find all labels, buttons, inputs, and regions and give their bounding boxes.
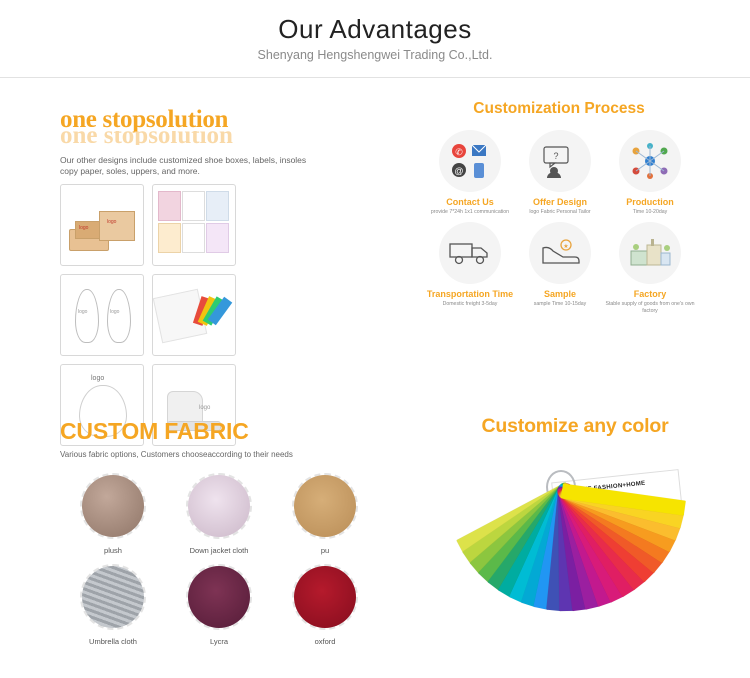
customize-any-color-section: Customize any color PANTONE FASHION+HOME… — [440, 415, 730, 646]
factory-icon — [619, 222, 681, 284]
fabric-swatch — [80, 564, 146, 630]
svg-text:?: ? — [553, 151, 558, 161]
production-network-icon — [619, 130, 681, 192]
process-step-sub: sample Time 10-15day — [515, 301, 605, 308]
customization-process-title: Customization Process — [425, 100, 693, 118]
tile-logo-label-2: logo — [79, 225, 88, 231]
one-stop-tile-grid: logo logo logo logo — [60, 184, 324, 446]
process-step-sub: logo Fabric Personal Tailor — [515, 209, 605, 216]
process-step-name: Transportation Time — [425, 289, 515, 299]
page-header: Our Advantages Shenyang Hengshengwei Tra… — [0, 0, 750, 78]
process-step-factory: Factory Stable supply of goods from one'… — [605, 222, 695, 315]
shoe-sample-icon-svg: ★ — [538, 238, 582, 268]
process-step-name: Sample — [515, 289, 605, 299]
one-stop-title-part2: solution — [146, 106, 228, 133]
fabric-item-lycra: Lycra — [166, 564, 272, 646]
tile-logo-label-1: logo — [107, 219, 116, 225]
fabric-name: Lycra — [166, 637, 272, 646]
fabric-item-oxford: oxford — [272, 564, 378, 646]
process-step-name: Factory — [605, 289, 695, 299]
fabric-swatch — [186, 564, 252, 630]
process-steps-grid: ✆ @ Contact Us provide 7*24h 1x1 communi… — [425, 130, 695, 321]
process-step-sub: provide 7*24h 1x1 communication — [425, 209, 515, 216]
customization-process-section: Customization Process ✆ @ Contact Us pro… — [425, 100, 695, 321]
process-step-name: Contact Us — [425, 197, 515, 207]
fabric-name: plush — [60, 546, 166, 555]
process-step-offer-design: ? Offer Design logo Fabric Personal Tail… — [515, 130, 605, 216]
process-step-name: Offer Design — [515, 197, 605, 207]
fabric-name: Down jacket cloth — [166, 546, 272, 555]
svg-text:@: @ — [454, 166, 463, 176]
tile-shoe-boxes: logo logo — [60, 184, 144, 266]
customize-any-color-title: Customize any color — [440, 415, 710, 438]
design-chat-icon-svg: ? — [540, 144, 580, 178]
contact-icons: ✆ @ — [439, 130, 501, 192]
custom-fabric-title: CUSTOM FABRIC — [60, 418, 400, 445]
tile-sole-logo: logo — [91, 375, 104, 382]
fabric-name: Umbrella cloth — [60, 637, 166, 646]
svg-text:★: ★ — [563, 243, 568, 250]
tile-copy-paper-color-chart — [152, 274, 236, 356]
pantone-fan-deck: PANTONE FASHION+HOME Nylon brights — [440, 456, 730, 646]
custom-fabric-section: CUSTOM FABRIC Various fabric options, Cu… — [60, 418, 400, 655]
fabric-swatch — [80, 473, 146, 539]
truck-icon-svg — [447, 239, 493, 267]
process-step-sub: Stable supply of goods from one's own fa… — [605, 301, 695, 315]
process-step-production: Production Time 10-20day — [605, 130, 695, 216]
one-stop-title-shadow: one stopsolution — [60, 131, 390, 145]
fabric-item-down-jacket-cloth: Down jacket cloth — [166, 473, 272, 555]
custom-fabric-description: Various fabric options, Customers choose… — [60, 450, 400, 459]
factory-icon-svg — [627, 237, 673, 269]
process-step-contact-us: ✆ @ Contact Us provide 7*24h 1x1 communi… — [425, 130, 515, 216]
process-step-transportation-time: Transportation Time Domestic freight 3-5… — [425, 222, 515, 315]
one-stop-solution-section: one stopsolution one stopsolution Our ot… — [60, 105, 390, 446]
company-name: Shenyang Hengshengwei Trading Co.,Ltd. — [0, 48, 750, 62]
one-stop-description: Our other designs include customized sho… — [60, 155, 310, 177]
fabric-swatch-grid: plush Down jacket cloth pu Umbrella clot… — [60, 473, 390, 655]
header-divider — [0, 77, 750, 78]
fabric-name: oxford — [272, 637, 378, 646]
tile-hang-tags-labels — [152, 184, 236, 266]
fabric-swatch — [186, 473, 252, 539]
fabric-item-umbrella-cloth: Umbrella cloth — [60, 564, 166, 646]
fabric-swatch — [292, 564, 358, 630]
production-network-icon-svg — [628, 143, 672, 179]
fabric-item-pu: pu — [272, 473, 378, 555]
contact-icons-svg: ✆ @ — [448, 141, 492, 181]
fabric-item-plush: plush — [60, 473, 166, 555]
tile-insole-logo-left: logo — [78, 309, 87, 315]
svg-text:✆: ✆ — [455, 147, 463, 157]
shoe-sample-icon: ★ — [529, 222, 591, 284]
tile-insoles: logo logo — [60, 274, 144, 356]
process-step-sample: ★ Sample sample Time 10-15day — [515, 222, 605, 315]
process-step-name: Production — [605, 197, 695, 207]
page-title: Our Advantages — [0, 0, 750, 46]
tile-insole-logo-right: logo — [110, 309, 119, 315]
truck-icon — [439, 222, 501, 284]
design-chat-icon: ? — [529, 130, 591, 192]
fabric-name: pu — [272, 546, 378, 555]
one-stop-title-part1: one stop — [60, 106, 146, 133]
fabric-swatch — [292, 473, 358, 539]
tile-boot-logo: logo — [199, 405, 210, 411]
process-step-sub: Domestic freight 3-5day — [425, 301, 515, 308]
process-step-sub: Time 10-20day — [605, 209, 695, 216]
